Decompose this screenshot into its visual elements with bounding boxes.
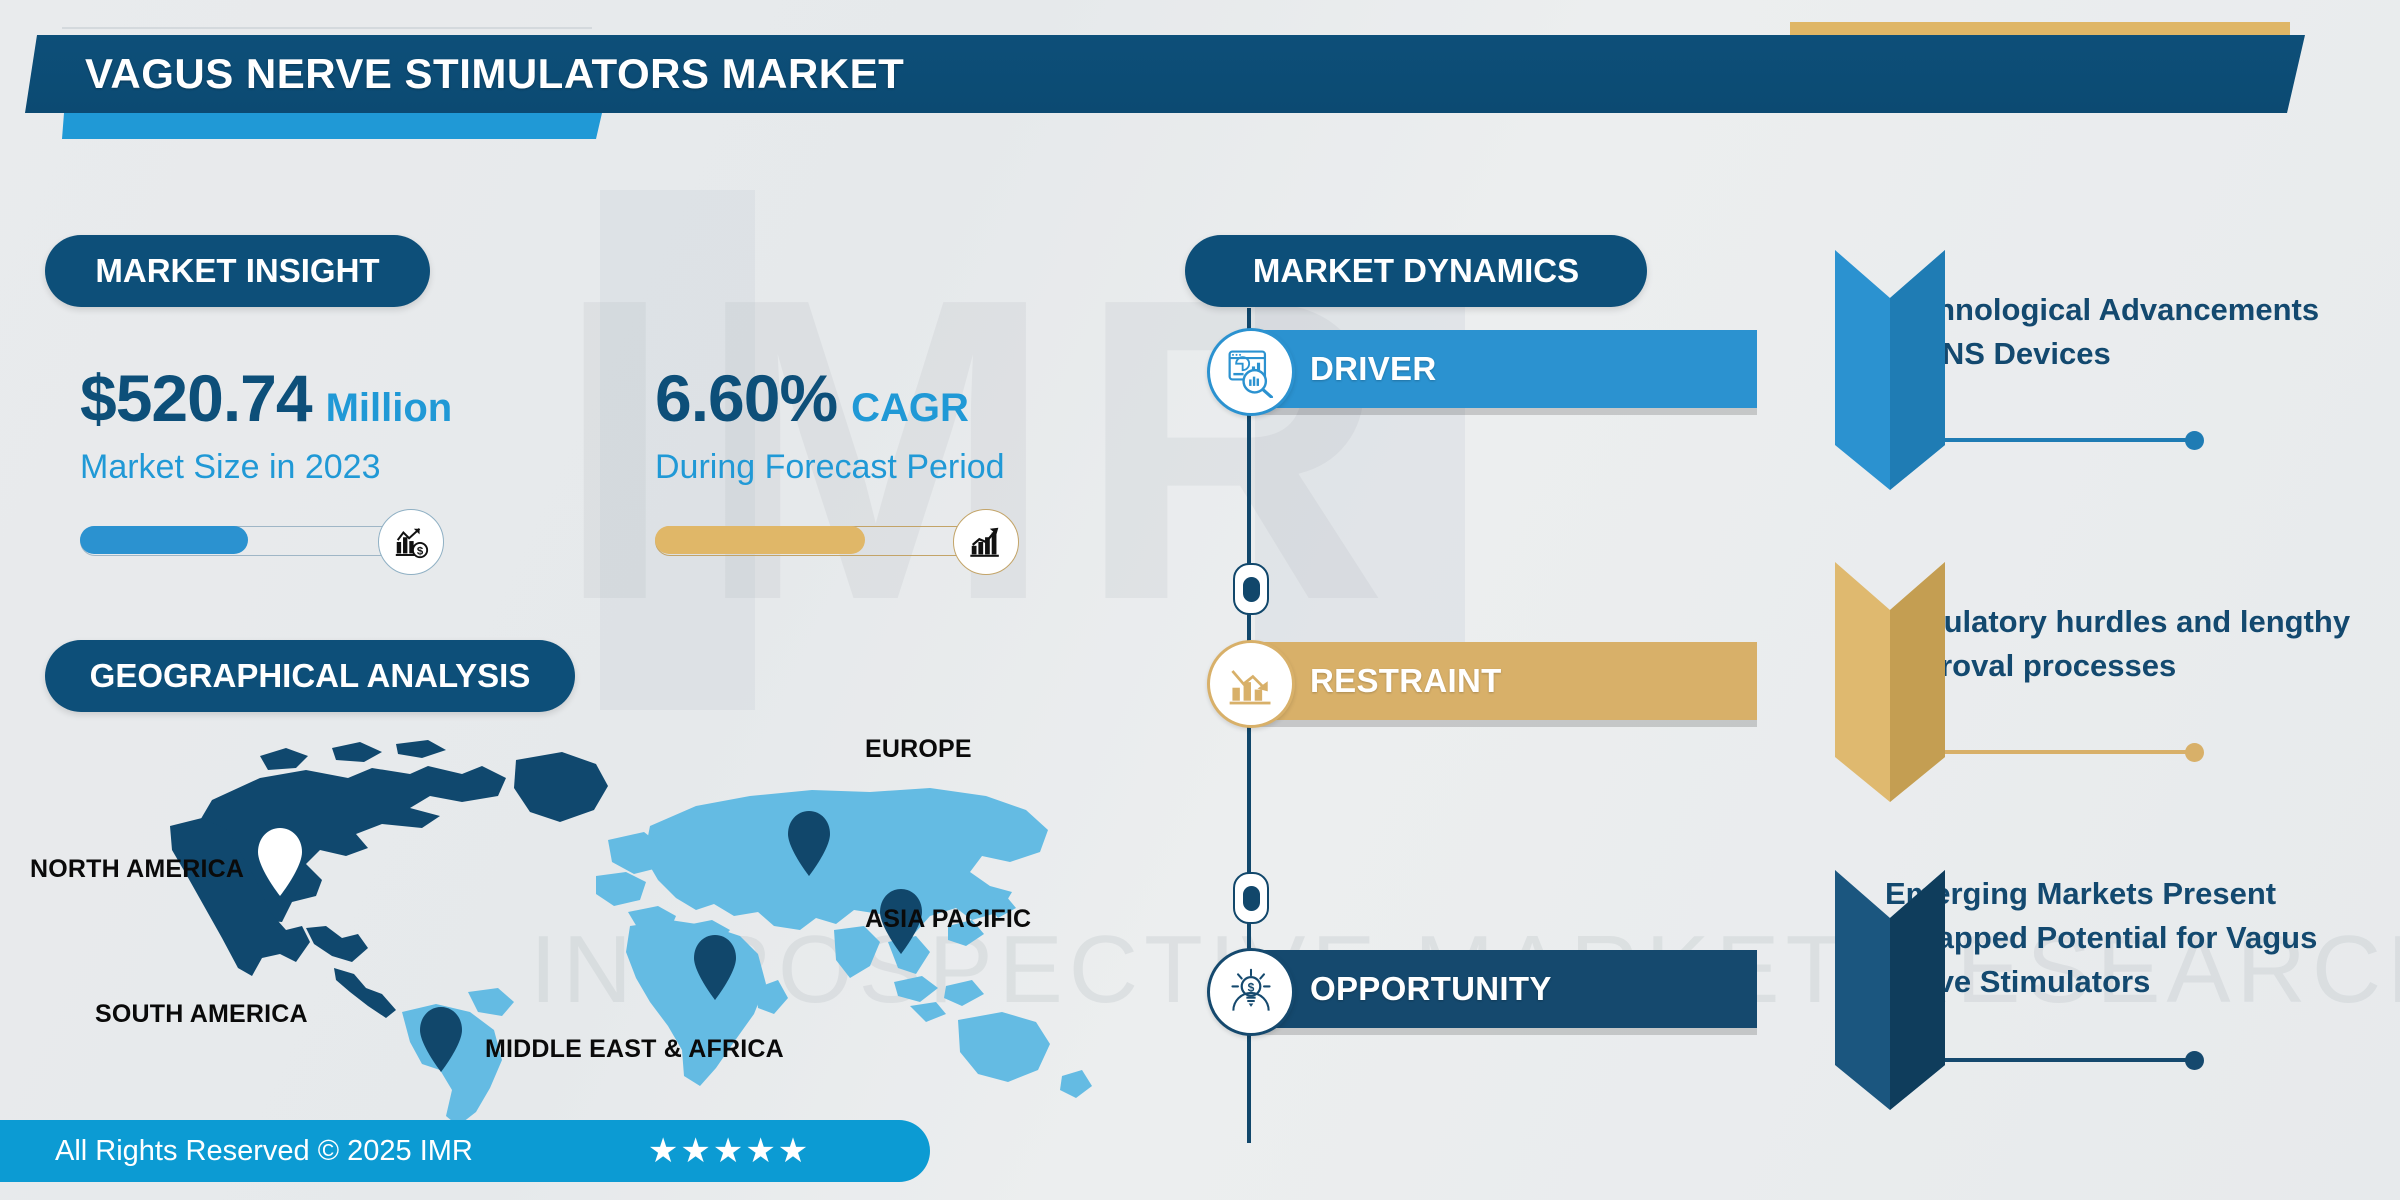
dynamics-caption-opportunity[interactable]: $ OPPORTUNITY	[1207, 950, 1757, 1028]
page-title: VAGUS NERVE STIMULATORS MARKET	[85, 50, 904, 98]
dynamics-label-opportunity: OPPORTUNITY	[1310, 950, 1552, 1028]
kpi-market-size-row: $520.74 Million	[80, 365, 580, 431]
header-title-wrap: VAGUS NERVE STIMULATORS MARKET	[25, 35, 2305, 113]
timeline-node-2	[1233, 872, 1269, 924]
dynamics-description-opportunity: Emerging Markets Present Untapped Potent…	[1885, 872, 2355, 1004]
chevron-ribbon-restraint	[1835, 562, 1945, 802]
dynamics-label-restraint: RESTRAINT	[1310, 642, 1502, 720]
section-pill-market-insight-label: MARKET INSIGHT	[95, 252, 379, 290]
section-pill-market-dynamics[interactable]: MARKET DYNAMICS	[1185, 235, 1647, 307]
kpi-cagr-progress	[655, 517, 1215, 563]
map-label-europe: EUROPE	[865, 735, 972, 764]
progress-fill-cagr	[655, 526, 865, 554]
declining-bar-chart-icon	[1207, 640, 1295, 728]
lightbulb-dollar-icon: $	[1207, 948, 1295, 1036]
kpi-market-size-unit: Million	[326, 388, 453, 428]
kpi-market-size-progress: $	[80, 517, 580, 563]
header-hairline	[62, 27, 592, 29]
dynamics-item-opportunity[interactable]: $ OPPORTUNITY Emerging Markets Present U…	[1185, 950, 2400, 1010]
kpi-cagr-caption: During Forecast Period	[655, 448, 1215, 487]
chevron-ribbon-opportunity	[1835, 870, 1945, 1110]
kpi-cagr-value: 6.60%	[655, 365, 837, 431]
section-pill-geographical-analysis-label: GEOGRAPHICAL ANALYSIS	[90, 657, 531, 695]
kpi-cagr-row: 6.60% CAGR	[655, 365, 1215, 431]
dynamics-item-driver[interactable]: DRIVER Technological Advancements in VNS…	[1185, 330, 2400, 390]
map-label-asia-pacific: ASIA PACIFIC	[865, 905, 1031, 934]
kpi-cagr: 6.60% CAGR During Forecast Period	[655, 365, 1215, 563]
map-label-north-america: NORTH AMERICA	[30, 855, 244, 884]
dynamics-description-restraint: Regulatory hurdles and lengthy approval …	[1885, 600, 2355, 688]
section-pill-market-insight[interactable]: MARKET INSIGHT	[45, 235, 430, 307]
section-pill-market-dynamics-label: MARKET DYNAMICS	[1253, 252, 1579, 290]
bar-chart-dollar-icon: $	[378, 509, 444, 575]
map-region-oceania	[958, 1012, 1092, 1098]
footer-rating-stars: ★★★★★	[648, 1131, 810, 1171]
map-label-middle-east-africa: MIDDLE EAST & AFRICA	[485, 1035, 784, 1064]
kpi-market-size: $520.74 Million Market Size in 2023 $	[80, 365, 580, 563]
dynamics-tail-dot-restraint	[2185, 743, 2204, 762]
kpi-market-size-caption: Market Size in 2023	[80, 448, 580, 487]
footer-copyright: All Rights Reserved © 2025 IMR	[55, 1135, 473, 1168]
section-pill-geographical-analysis[interactable]: GEOGRAPHICAL ANALYSIS	[45, 640, 575, 712]
dynamics-caption-driver[interactable]: DRIVER	[1207, 330, 1757, 408]
growth-arrow-chart-icon	[953, 509, 1019, 575]
progress-fill-market-size	[80, 526, 248, 554]
footer-bar: All Rights Reserved © 2025 IMR ★★★★★	[0, 1120, 930, 1182]
dashboard-analytics-search-icon	[1207, 328, 1295, 416]
kpi-market-size-value: $520.74	[80, 365, 312, 431]
map-region-central-america	[334, 968, 396, 1018]
dynamics-label-driver: DRIVER	[1310, 330, 1437, 408]
infographic-canvas: IMR INTROSPECTIVE MARKET RESEARCH VAGUS …	[0, 0, 2400, 1200]
svg-text:$: $	[417, 545, 424, 557]
dynamics-tail-dot-driver	[2185, 431, 2204, 450]
timeline-node-1	[1233, 563, 1269, 615]
dynamics-description-driver: Technological Advancements in VNS Device…	[1885, 288, 2355, 376]
map-label-south-america: SOUTH AMERICA	[95, 1000, 308, 1029]
kpi-cagr-unit: CAGR	[851, 388, 969, 428]
frame-corner-top-left	[0, 0, 30, 30]
chevron-ribbon-driver	[1835, 250, 1945, 490]
dynamics-tail-dot-opportunity	[2185, 1051, 2204, 1070]
dynamics-item-restraint[interactable]: RESTRAINT Regulatory hurdles and lengthy…	[1185, 642, 2400, 702]
dynamics-caption-restraint[interactable]: RESTRAINT	[1207, 642, 1757, 720]
market-dynamics-group: DRIVER Technological Advancements in VNS…	[1185, 300, 2400, 1200]
header-blue-accent	[62, 113, 602, 139]
